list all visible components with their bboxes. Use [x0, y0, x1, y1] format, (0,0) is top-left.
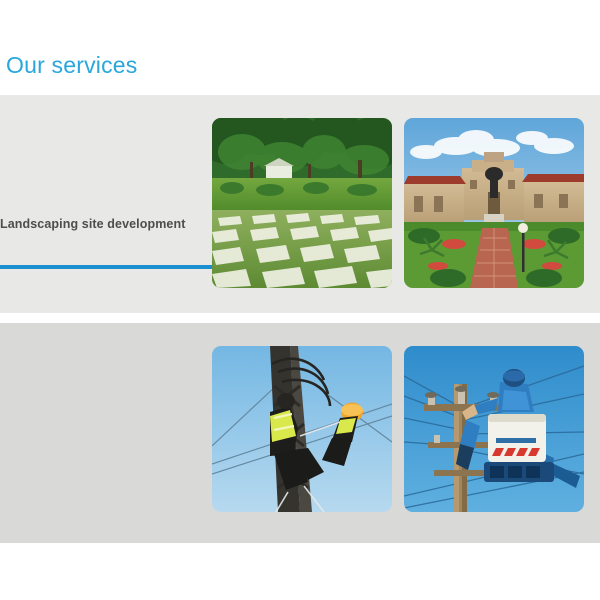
maintenance-bucket-truck-art	[404, 346, 584, 512]
landscaping-garden-pavers-art	[212, 118, 392, 288]
maintenance-lineman-climbing-art	[212, 346, 392, 512]
services-page: Our services Landscaping site developmen…	[0, 0, 600, 600]
page-title: Our services	[6, 52, 137, 79]
service-divider-landscaping	[0, 265, 212, 269]
landscaping-villa-courtyard-photo	[404, 118, 584, 288]
maintenance-lineman-climbing-photo	[212, 346, 392, 512]
landscaping-villa-courtyard-art	[404, 118, 584, 288]
maintenance-bucket-truck-photo	[404, 346, 584, 512]
service-label-landscaping: Landscaping site development	[0, 217, 185, 231]
landscaping-garden-pavers-photo	[212, 118, 392, 288]
